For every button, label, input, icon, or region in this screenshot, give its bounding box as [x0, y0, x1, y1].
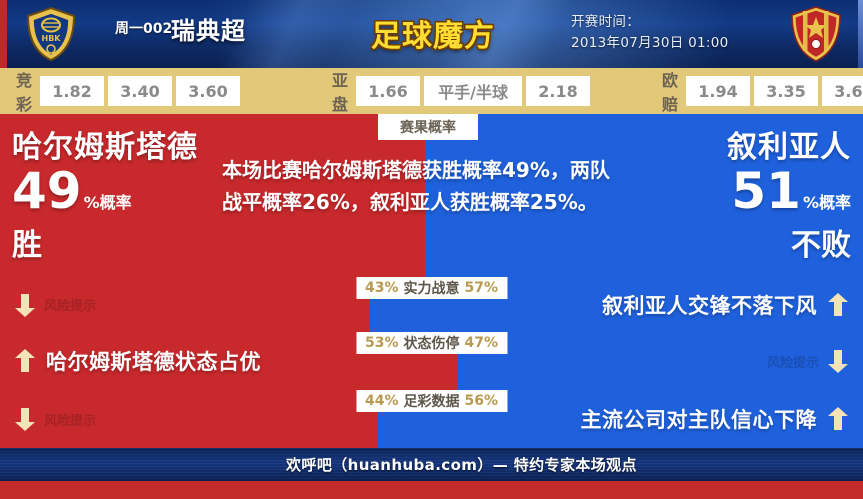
arrow-up-icon [827, 292, 849, 318]
row3-right-headline: 主流公司对主队信心下降 [581, 404, 850, 434]
away-probability-value: 51 [731, 162, 801, 220]
odds-group-yapan: 亚盘 1.66 平手/半球 2.18 [332, 76, 594, 106]
home-team-crest-icon: HBK [22, 5, 80, 63]
header-left-accent [0, 0, 7, 68]
away-team-crest-icon [787, 5, 845, 63]
row3-badge-right-pct: 56% [465, 393, 499, 409]
row3-badge-left-pct: 44% [365, 393, 399, 409]
row1-badge: 43% 实力战意 57% [356, 277, 507, 299]
odds-group-oupei: 欧赔 1.94 3.35 3.66 [662, 76, 863, 106]
home-probability-value: 49 [12, 162, 82, 220]
league-name: 瑞典超 [171, 11, 246, 46]
site-logo-text: 足球魔方 [353, 11, 513, 55]
row1-right-headline: 叙利亚人交锋不落下风 [602, 290, 849, 320]
arrow-down-icon [14, 292, 36, 318]
away-outcome-label: 不败 [611, 229, 851, 263]
arrow-down-icon [827, 348, 849, 374]
odds-cell-oupei-2[interactable]: 3.35 [754, 76, 818, 106]
home-team-name: 哈尔姆斯塔德 [12, 131, 252, 165]
odds-label-yapan: 亚盘 [332, 67, 348, 115]
odds-label-jingcai: 竞彩 [16, 67, 32, 115]
home-outcome-label: 胜 [12, 229, 252, 263]
odds-cell-yapan-1[interactable]: 1.66 [356, 76, 420, 106]
odds-cell-yapan-handicap[interactable]: 平手/半球 [424, 76, 522, 106]
row1-right-headline-text: 叙利亚人交锋不落下风 [602, 290, 817, 320]
infographic-page: HBK 周一002 瑞典超 足球魔方 开赛时间： 2013年07月30日 01:… [0, 0, 863, 499]
odds-cell-jingcai-3[interactable]: 3.60 [176, 76, 240, 106]
arrow-up-icon [827, 406, 849, 432]
svg-text:HBK: HBK [42, 34, 62, 43]
away-probability-unit: %概率 [803, 193, 851, 212]
odds-cell-jingcai-2[interactable]: 3.40 [108, 76, 172, 106]
site-logo[interactable]: 足球魔方 [345, 0, 520, 68]
odds-cell-oupei-3[interactable]: 3.66 [822, 76, 863, 106]
comparison-row-betting-data: 44% 足彩数据 56% 风险提示 主流公司对主队信心下降 [0, 390, 863, 448]
comparison-row-strength: 43% 实力战意 57% 风险提示 叙利亚人交锋不落下风 [0, 277, 863, 332]
row3-left-risk-text: 风险提示 [44, 410, 96, 429]
row1-left-risk: 风险提示 [14, 292, 96, 318]
kickoff-value: 2013年07月30日 01:00 [571, 33, 771, 54]
hero-tab-result-probability[interactable]: 赛果概率 [378, 114, 478, 140]
row1-left-risk-text: 风险提示 [44, 295, 96, 314]
row2-badge-left-pct: 53% [365, 335, 399, 351]
odds-cell-jingcai-1[interactable]: 1.82 [40, 76, 104, 106]
row3-right-headline-text: 主流公司对主队信心下降 [581, 404, 818, 434]
row2-badge-right-pct: 47% [465, 335, 499, 351]
row2-left-headline-text: 哈尔姆斯塔德状态占优 [46, 346, 261, 376]
hero-summary-text: 本场比赛哈尔姆斯塔德获胜概率49%，两队战平概率26%，叙利亚人获胜概率25%。 [222, 154, 622, 218]
home-probability-unit: %概率 [84, 193, 132, 212]
row2-badge: 53% 状态伤停 47% [356, 332, 507, 354]
home-team-summary: 哈尔姆斯塔德 49%概率 胜 [12, 131, 252, 263]
row3-left-risk: 风险提示 [14, 406, 96, 432]
probability-hero: 赛果概率 哈尔姆斯塔德 49%概率 胜 叙利亚人 51%概率 不败 本场比赛哈尔… [0, 114, 863, 277]
row2-left-headline: 哈尔姆斯塔德状态占优 [14, 346, 261, 376]
row2-badge-label: 状态伤停 [404, 333, 460, 353]
header-right-accent [858, 0, 863, 68]
away-team-summary: 叙利亚人 51%概率 不败 [611, 131, 851, 263]
footer-credit-text: 欢呼吧（huanhuba.com）— 特约专家本场观点 [286, 454, 637, 475]
row1-badge-right-pct: 57% [465, 280, 499, 296]
home-probability-line: 49%概率 [12, 165, 252, 229]
kickoff-time: 开赛时间： 2013年07月30日 01:00 [571, 12, 771, 54]
away-probability-line: 51%概率 [611, 165, 851, 229]
odds-bar: 竞彩 1.82 3.40 3.60 亚盘 1.66 平手/半球 2.18 欧赔 … [0, 68, 863, 114]
row1-badge-left-pct: 43% [365, 280, 399, 296]
odds-cell-oupei-1[interactable]: 1.94 [686, 76, 750, 106]
kickoff-label: 开赛时间： [571, 12, 771, 33]
comparison-row-form-injury: 53% 状态伤停 47% 哈尔姆斯塔德状态占优 风险提示 [0, 332, 863, 390]
odds-group-jingcai: 竞彩 1.82 3.40 3.60 [16, 76, 244, 106]
row2-right-risk-text: 风险提示 [767, 352, 819, 371]
odds-label-oupei: 欧赔 [662, 67, 678, 115]
away-team-name: 叙利亚人 [611, 131, 851, 165]
row2-right-risk: 风险提示 [767, 348, 849, 374]
row3-badge-label: 足彩数据 [404, 391, 460, 411]
arrow-up-icon [14, 348, 36, 374]
match-header: HBK 周一002 瑞典超 足球魔方 开赛时间： 2013年07月30日 01:… [0, 0, 863, 68]
match-number: 周一002 [115, 18, 172, 38]
row3-badge: 44% 足彩数据 56% [356, 390, 507, 412]
row1-badge-label: 实力战意 [404, 278, 460, 298]
page-footer: 欢呼吧（huanhuba.com）— 特约专家本场观点 [0, 448, 863, 481]
arrow-down-icon [14, 406, 36, 432]
odds-cell-yapan-2[interactable]: 2.18 [526, 76, 590, 106]
